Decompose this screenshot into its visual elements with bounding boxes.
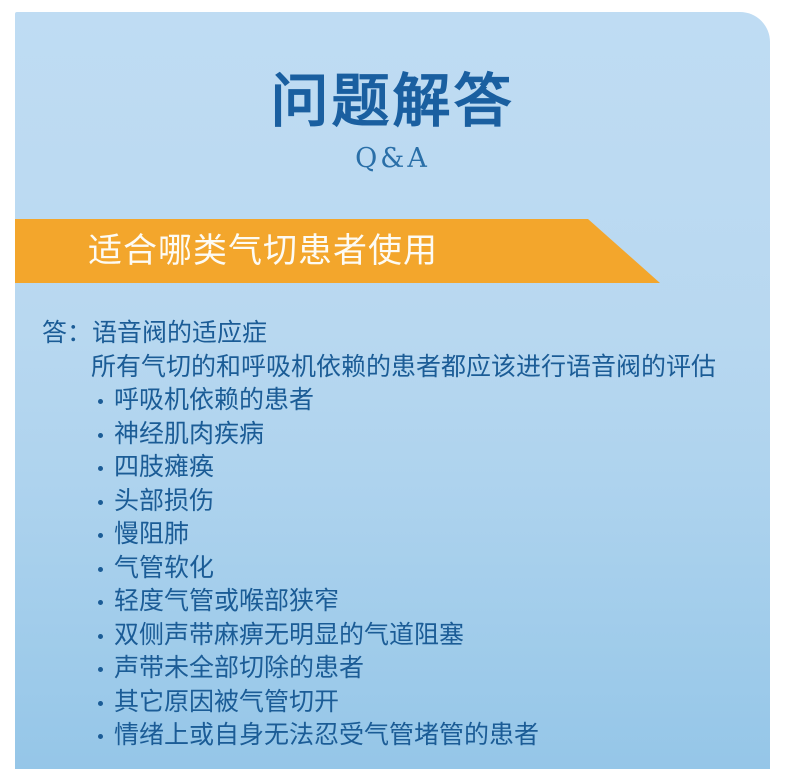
list-item: 头部损伤 bbox=[98, 484, 752, 518]
qa-slide: 问题解答 Q&A 适合哪类气切患者使用 答：语音阀的适应症 所有气切的和呼吸机依… bbox=[0, 0, 790, 769]
page-subtitle: Q&A bbox=[15, 133, 770, 174]
list-item: 情绪上或自身无法忍受气管堵管的患者 bbox=[98, 718, 752, 752]
list-item: 四肢瘫痪 bbox=[98, 450, 752, 484]
header: 问题解答 Q&A bbox=[15, 12, 770, 174]
section-banner-label: 适合哪类气切患者使用 bbox=[15, 234, 438, 268]
answer-lead-line: 答：语音阀的适应症 bbox=[42, 316, 752, 350]
page-title: 问题解答 bbox=[15, 12, 770, 133]
list-item: 气管软化 bbox=[98, 551, 752, 585]
answer-intro-line: 所有气切的和呼吸机依赖的患者都应该进行语音阀的评估 bbox=[42, 350, 752, 384]
list-item: 双侧声带麻痹无明显的气道阻塞 bbox=[98, 618, 752, 652]
list-item: 声带未全部切除的患者 bbox=[98, 651, 752, 685]
content-panel: 问题解答 Q&A 适合哪类气切患者使用 答：语音阀的适应症 所有气切的和呼吸机依… bbox=[15, 12, 770, 769]
section-banner: 适合哪类气切患者使用 bbox=[15, 219, 660, 283]
list-item: 其它原因被气管切开 bbox=[98, 685, 752, 719]
list-item: 神经肌肉疾病 bbox=[98, 417, 752, 451]
indication-list: 呼吸机依赖的患者 神经肌肉疾病 四肢瘫痪 头部损伤 慢阻肺 气管软化 轻度气管或… bbox=[42, 383, 752, 752]
list-item: 呼吸机依赖的患者 bbox=[98, 383, 752, 417]
list-item: 轻度气管或喉部狭窄 bbox=[98, 584, 752, 618]
answer-block: 答：语音阀的适应症 所有气切的和呼吸机依赖的患者都应该进行语音阀的评估 呼吸机依… bbox=[42, 316, 752, 752]
list-item: 慢阻肺 bbox=[98, 517, 752, 551]
